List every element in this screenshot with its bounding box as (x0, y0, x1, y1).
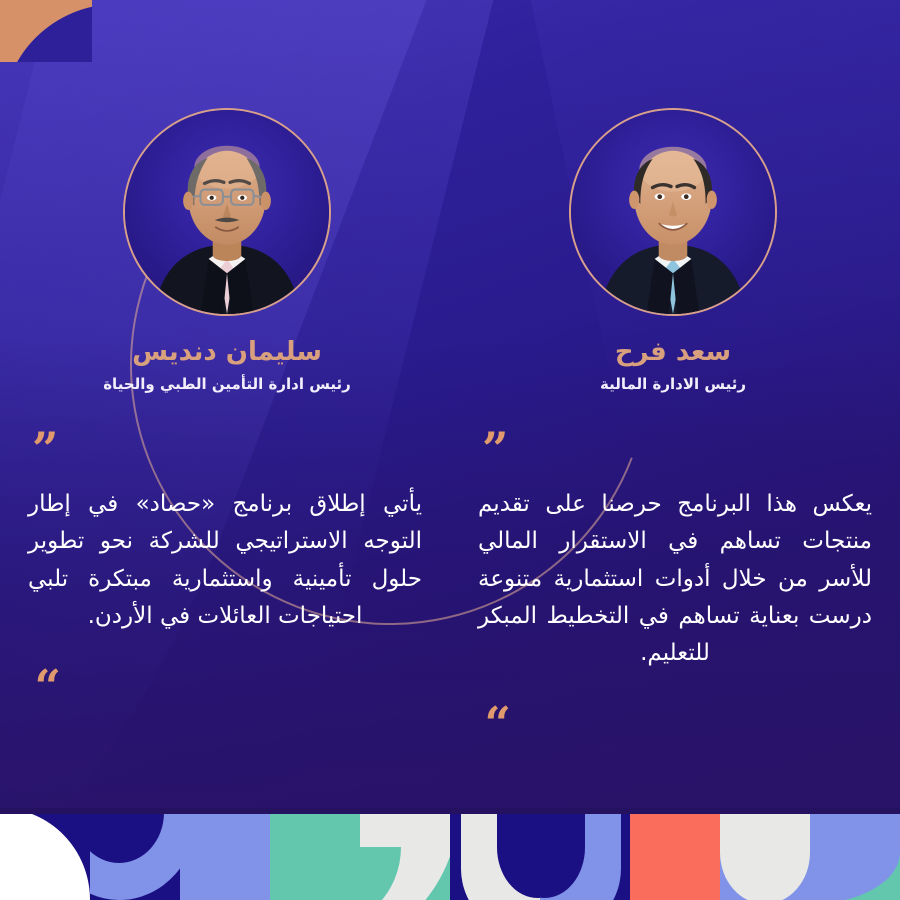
person-name: سعد فرح (615, 338, 731, 367)
quarter-circle-tile (0, 808, 90, 900)
donut-arc-tile (90, 808, 180, 900)
bottom-pattern-strip (0, 808, 900, 900)
poster-canvas: سعد فرح رئيس الادارة المالية (0, 0, 900, 900)
quarter-circle-tile (630, 808, 720, 900)
person-card-saad-farah: سعد فرح رئيس الادارة المالية (548, 108, 798, 393)
person-name: سليمان دنديس (132, 338, 322, 367)
solid-tile-shape (270, 808, 360, 900)
solid-tile (270, 808, 360, 900)
avatar (123, 108, 331, 316)
quote-text: يعكس هذا البرنامج حرصنا على تقديم منتجات… (478, 486, 872, 672)
quote-block-saad-farah: ” يعكس هذا البرنامج حرصنا على تقديم منتج… (450, 436, 900, 714)
quote-open-icon: ” (478, 436, 872, 466)
half-circle-tile (810, 808, 900, 900)
person-card-sulaiman-dandis: سليمان دنديس رئيس ادارة التأمين الطبي وا… (102, 108, 352, 393)
person-role: رئيس الادارة المالية (600, 375, 746, 393)
quarter-arc-tile (360, 808, 450, 900)
quote-block-sulaiman-dandis: ” يأتي إطلاق برنامج «حصاد» في إطار التوج… (0, 436, 450, 714)
quarter-circle-tile (180, 808, 270, 900)
quarter-circle-tile-shape (180, 808, 270, 900)
portrait-photo-saad-farah-icon (571, 110, 775, 314)
people-row: سعد فرح رئيس الادارة المالية (0, 108, 900, 393)
half-circle-tile (720, 808, 810, 900)
avatar (569, 108, 777, 316)
quote-text: يأتي إطلاق برنامج «حصاد» في إطار التوجه … (28, 486, 422, 635)
u-arc-tile (450, 808, 540, 900)
quote-open-icon: ” (28, 436, 422, 466)
portrait-photo-sulaiman-dandis-icon (125, 110, 329, 314)
u-arc-tile (540, 808, 630, 900)
quote-close-icon: ” (28, 647, 422, 677)
person-role: رئيس ادارة التأمين الطبي والحياة (103, 375, 351, 393)
quarter-circle-tile-shape (630, 808, 720, 900)
half-circle-tile-shape (720, 808, 810, 900)
quarter-circle-tile-shape (0, 808, 90, 900)
corner-blob-icon (0, 0, 92, 62)
quotes-row: ” يعكس هذا البرنامج حرصنا على تقديم منتج… (0, 436, 900, 714)
quote-close-icon: ” (478, 684, 872, 714)
